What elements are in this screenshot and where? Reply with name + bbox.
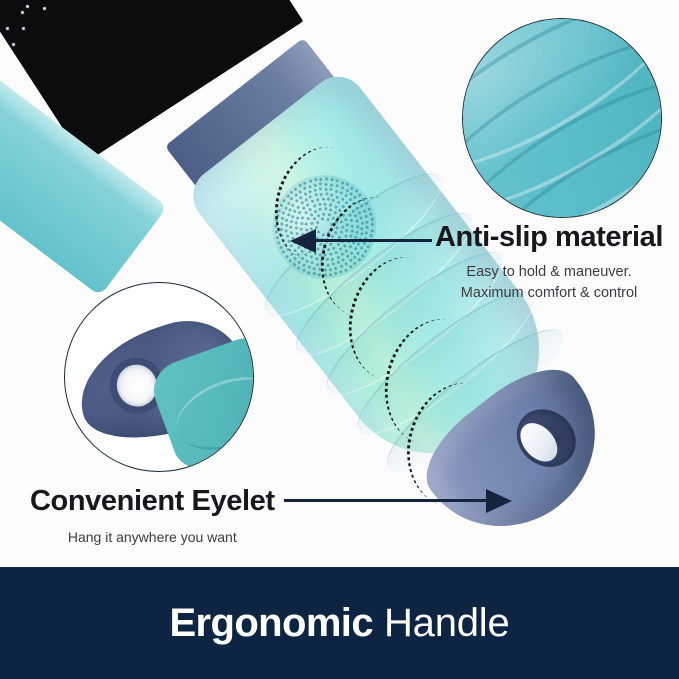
grip-dimple	[292, 263, 296, 267]
grip-dimple	[307, 265, 311, 269]
banner-title-light: Handle	[384, 601, 510, 646]
arrow-line-eyelet	[284, 499, 486, 502]
bristle-dot	[20, 10, 25, 15]
callout-circle-anti-slip	[462, 18, 662, 218]
annotation-anti-slip: Anti-slip material Easy to hold & maneuv…	[435, 221, 663, 304]
annotation-eyelet: Convenient Eyelet Hang it anywhere you w…	[30, 485, 275, 547]
arrow-line-anti-slip	[316, 239, 432, 242]
grip-dimple	[302, 268, 306, 272]
grip-dimple	[315, 262, 319, 266]
grip-dimple	[307, 270, 311, 274]
grip-dimple	[310, 261, 314, 265]
annotation-title: Anti-slip material	[435, 221, 663, 254]
grip-dimple	[277, 240, 281, 244]
grip-dimple	[297, 266, 301, 270]
bottom-banner: Ergonomic Handle	[0, 567, 679, 679]
arrow-head-eyelet	[486, 489, 512, 513]
annotation-subtitle-line1: Easy to hold & maneuver.	[466, 264, 631, 280]
annotation-subtitle: Easy to hold & maneuver. Maximum comfort…	[435, 262, 663, 304]
annotation-title: Convenient Eyelet	[30, 485, 275, 518]
grip-dimple	[281, 250, 285, 254]
banner-title-bold: Ergonomic	[169, 601, 373, 646]
grip-dimple	[312, 267, 316, 271]
grip-dimple	[285, 255, 289, 259]
annotation-subtitle-line2: Maximum comfort & control	[461, 285, 637, 301]
grip-dimple	[302, 263, 306, 267]
infographic-canvas: Anti-slip material Easy to hold & maneuv…	[0, 0, 679, 679]
bristle-dot	[5, 26, 10, 31]
grip-texture-closeup	[462, 18, 662, 218]
grip-dimple	[293, 257, 297, 261]
bristle-dot	[42, 6, 47, 11]
callout-circle-eyelet	[64, 282, 254, 472]
arrow-head-anti-slip	[290, 229, 316, 253]
bristle-dot	[25, 4, 30, 9]
grip-dimple	[312, 272, 316, 276]
annotation-subtitle: Hang it anywhere you want	[30, 527, 275, 547]
bristle-dot	[21, 26, 26, 31]
grip-dimple	[288, 259, 292, 263]
banner-content: Ergonomic Handle	[0, 567, 679, 679]
grip-dimple	[297, 260, 301, 264]
bristle-dot	[11, 42, 16, 47]
grip-dimple	[279, 246, 283, 250]
annotation-subtitle-line1: Hang it anywhere you want	[68, 529, 237, 545]
eyelet-hole	[505, 397, 587, 478]
